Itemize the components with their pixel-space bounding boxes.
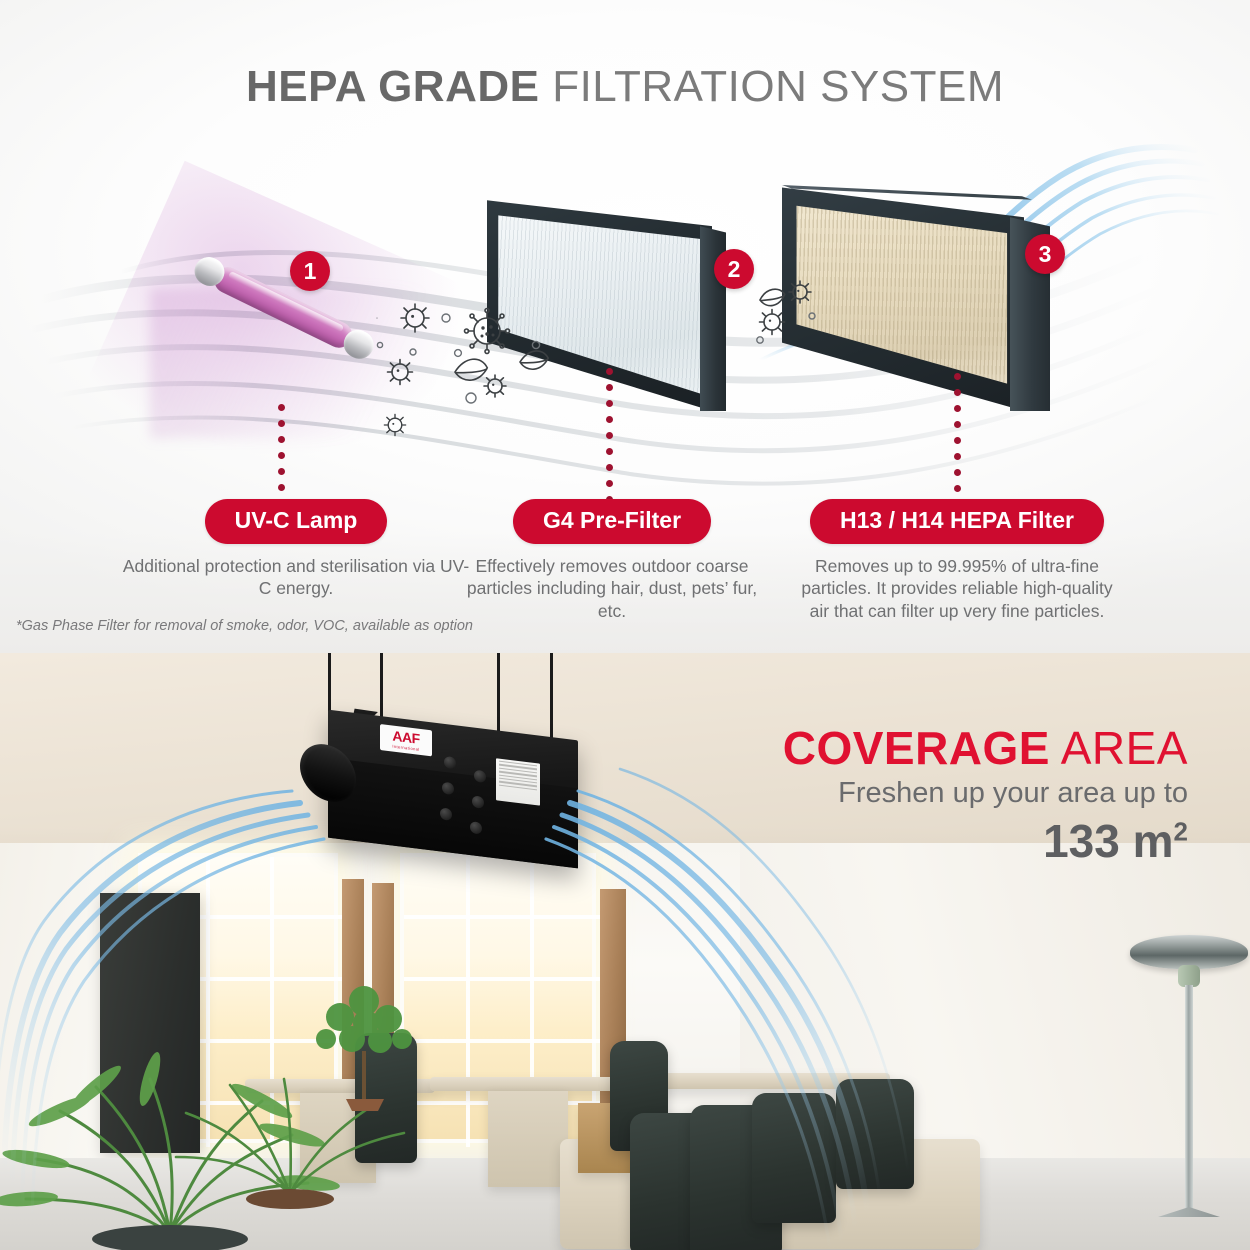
coverage-value-number: 133 m — [1043, 815, 1173, 867]
feature-uv-c-lamp: UV-C Lamp Additional protection and ster… — [122, 499, 470, 600]
pollen-leaf-icon — [453, 355, 490, 384]
uv-c-lamp-graphic — [190, 253, 378, 362]
page-title-strong: HEPA GRADE — [246, 62, 539, 111]
germ-icon — [384, 414, 405, 435]
prefilter-side-edge — [700, 196, 726, 411]
coverage-value: 133 m2 — [783, 814, 1188, 868]
feature-hepa-filter: H13 / H14 HEPA Filter Removes up to 99.9… — [790, 499, 1124, 622]
small-tree-plant — [290, 973, 440, 1113]
connector-dots-two — [606, 368, 613, 503]
air-purification-unit: AAF International — [328, 710, 578, 869]
coverage-area-photo-panel: AAF International — [0, 653, 1250, 1250]
dust-dot-icon — [410, 349, 416, 355]
dust-dot-icon — [442, 314, 450, 322]
feature-g4-pre-filter-description: Effectively removes outdoor coarse parti… — [462, 555, 762, 622]
gas-phase-filter-footnote: *Gas Phase Filter for removal of smoke, … — [16, 618, 473, 634]
unit-front-face — [328, 758, 578, 869]
mounting-bolt-icon — [444, 756, 456, 769]
lamp-neck — [1178, 965, 1200, 987]
lamp-pole — [1185, 985, 1193, 1213]
page-title: HEPA GRADE FILTRATION SYSTEM — [0, 62, 1250, 112]
lamp-base — [1158, 1207, 1220, 1217]
feature-g4-pre-filter: G4 Pre-Filter Effectively removes outdoo… — [462, 499, 762, 622]
germ-icon — [401, 304, 429, 332]
coverage-heading-light: AREA — [1050, 722, 1188, 774]
suspension-cable-icon — [497, 653, 500, 741]
hepa-filter-graphic — [782, 183, 1054, 411]
floor-lamp — [1130, 935, 1250, 1235]
conference-chair-2 — [752, 1093, 836, 1223]
uv-lamp-tube — [210, 263, 356, 352]
germ-icon — [760, 310, 785, 335]
connector-dots-one — [278, 404, 285, 507]
conference-chair-3 — [836, 1079, 914, 1189]
ceiling-unit: AAF International — [300, 653, 620, 873]
aaf-logo-tagline: International — [392, 744, 419, 751]
dust-dot-icon — [466, 393, 476, 403]
coverage-area-text-block: COVERAGE AREA Freshen up your area up to… — [783, 721, 1188, 868]
germ-icon — [388, 360, 413, 385]
feature-hepa-filter-label: H13 / H14 HEPA Filter — [810, 499, 1104, 544]
dust-dot-icon — [455, 350, 462, 357]
page-title-light: FILTRATION SYSTEM — [539, 62, 1004, 111]
feature-uv-c-lamp-label: UV-C Lamp — [205, 499, 388, 544]
aaf-brand-label: AAF International — [380, 724, 432, 756]
dust-dot-icon — [377, 342, 382, 347]
badge-one: 1 — [290, 251, 330, 291]
badge-three: 3 — [1025, 234, 1065, 274]
coverage-subheading: Freshen up your area up to — [783, 777, 1188, 810]
filtration-diagram-panel: HEPA GRADE FILTRATION SYSTEM — [0, 0, 1250, 653]
feature-g4-pre-filter-label: G4 Pre-Filter — [513, 499, 711, 544]
coverage-heading: COVERAGE AREA — [783, 721, 1188, 775]
warning-label-icon — [496, 758, 540, 805]
lamp-shade — [1130, 935, 1248, 969]
feature-hepa-filter-description: Removes up to 99.995% of ultra-fine part… — [790, 555, 1124, 622]
badge-two: 2 — [714, 249, 754, 289]
feature-uv-c-lamp-description: Additional protection and sterilisation … — [122, 555, 470, 600]
desk-pedestal-center — [488, 1091, 568, 1187]
coverage-value-exponent: 2 — [1174, 817, 1188, 847]
dust-dot-icon — [757, 337, 763, 343]
connector-dots-three — [954, 373, 961, 492]
coverage-heading-strong: COVERAGE — [783, 722, 1050, 774]
